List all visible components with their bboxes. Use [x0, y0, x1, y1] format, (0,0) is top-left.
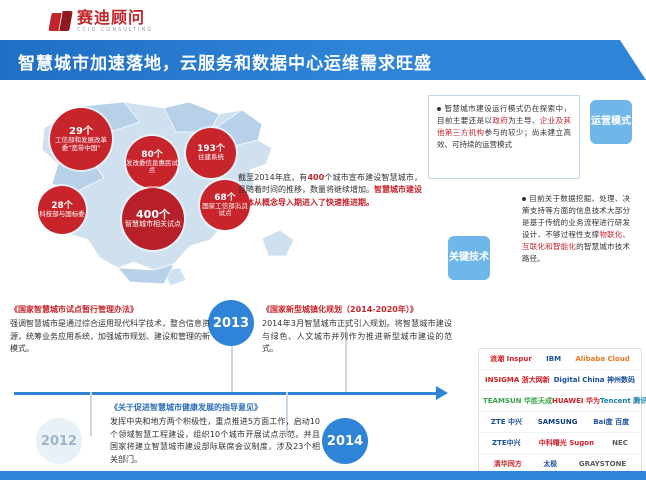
callout1-part3: 为主导、: [508, 116, 540, 125]
partner-logo: Alibaba Cloud: [575, 355, 629, 363]
partner-logo: HUAWEI 华为: [552, 396, 600, 406]
timeline-arrow-icon: [436, 386, 448, 400]
partner-logo: ZTE中兴: [492, 438, 521, 448]
map-bubble-5-label: 智慧城市相关试点: [125, 221, 181, 229]
callout-key-technology: 目前关于数据挖掘、处理、决策支持等方面的信息技术大部分是基于传统的业务流程进行研…: [514, 186, 638, 272]
partner-logo-row: ZTE中兴 中科曙光 Sugon NEC: [479, 433, 641, 453]
timeline-connector-2012: [90, 392, 92, 436]
timeline-item-urbanization-plan: 《国家新型城镇化规划（2014-2020年）》 2014年3月智慧城市正式引入规…: [262, 304, 452, 356]
partner-logo: INSIGMA 浙大网新: [485, 375, 550, 385]
partner-logo: GRAYSTONE: [579, 460, 626, 468]
partner-logo: 清华同方: [494, 459, 522, 469]
brand-name-cn: 赛迪顾问: [77, 10, 153, 26]
partner-logo-panel: 浪潮 Inspur IBM Alibaba Cloud INSIGMA 浙大网新…: [478, 348, 642, 472]
partner-logo: ZTE 中兴: [491, 417, 522, 427]
timeline-item-urbanization-plan-heading: 《国家新型城镇化规划（2014-2020年）》: [262, 304, 452, 316]
partner-logo: 中科曙光 Sugon: [539, 438, 594, 448]
timeline-year-2013: 2013: [208, 300, 254, 346]
partner-logo-row: 浪潮 Inspur IBM Alibaba Cloud: [479, 349, 641, 369]
map-bubble-3: 193个 住建系统: [186, 128, 236, 178]
map-bubble-4: 28个 科技部与国标委: [38, 186, 86, 234]
brand-name-en: CCID CONSULTING: [77, 28, 153, 33]
map-bubble-2: 80个 发改委信息惠民试点: [126, 136, 178, 188]
title-bar: 智慧城市加速落地，云服务和数据中心运维需求旺盛: [0, 40, 646, 80]
partner-logo-row: ZTE 中兴 SAMSUNG Bai度 百度: [479, 412, 641, 432]
timeline-year-2014: 2014: [322, 418, 368, 464]
callout-operation-mode: 智慧城市建设运行模式仍在探索中，目前主要还是以政府为主导、企业及其他第三方机构参…: [428, 95, 580, 179]
partner-logo: IBM: [546, 355, 561, 363]
partner-logo-row: INSIGMA 浙大网新 Digital China 神州数码: [479, 370, 641, 390]
page-title: 智慧城市加速落地，云服务和数据中心运维需求旺盛: [18, 49, 432, 74]
timeline-item-healthy-development-heading: 《关于促进智慧城市健康发展的指导意见》: [110, 402, 320, 414]
timeline-axis: [14, 392, 438, 395]
summary-count: 400: [307, 173, 324, 182]
footer-bar: [0, 471, 646, 480]
partner-logo: Bai度 百度: [593, 417, 629, 427]
partner-logo: 太极: [543, 459, 557, 469]
brand-logo: 赛迪顾问 CCID CONSULTING: [50, 10, 153, 33]
tag-key-technology: 关键技术: [448, 236, 490, 280]
partner-logo: Digital China 神州数码: [554, 375, 635, 385]
title-bar-notch: [620, 40, 646, 80]
partner-logo: TEAMSUN 华胜天成: [483, 396, 552, 406]
timeline-item-trial-measures: 《国家智慧城市试点暂行管理办法》 强调智慧城市是通过综合运用现代科学技术，整合信…: [10, 304, 210, 356]
timeline-item-healthy-development: 《关于促进智慧城市健康发展的指导意见》 发挥中央和地方两个积极性，重点推进5方面…: [110, 402, 320, 466]
partner-logo: NEC: [612, 439, 628, 447]
bullet-icon: [522, 197, 526, 201]
map-bubble-1: 29个 工信部和发展改革委"宽带中国": [50, 108, 112, 170]
timeline-year-2012: 2012: [36, 418, 82, 464]
map-bubble-4-label: 科技部与国标委: [39, 211, 85, 218]
map-bubble-3-label: 住建系统: [198, 154, 224, 161]
partner-logo-row: TEAMSUN 华胜天成 HUAWEI 华为 Tencent 腾讯: [479, 391, 641, 411]
partner-logo: Tencent 腾讯: [600, 396, 646, 406]
timeline-item-trial-measures-heading: 《国家智慧城市试点暂行管理办法》: [10, 304, 210, 316]
map-bubble-5: 400个 智慧城市相关试点: [122, 188, 184, 250]
map-bubble-2-label: 发改委信息惠民试点: [126, 160, 178, 175]
partner-logo: 浪潮 Inspur: [490, 354, 532, 364]
brand-mark-icon: [50, 11, 72, 33]
callout1-part2: 政府: [492, 116, 508, 125]
timeline-item-urbanization-plan-body: 2014年3月智慧城市正式引入规划。将智慧城市建设与绿色、人文城市并列作为推进新…: [262, 319, 452, 353]
tag-operation-mode: 运营模式: [590, 100, 632, 144]
partner-logo: SAMSUNG: [538, 418, 578, 426]
map-bubble-1-label: 工信部和发展改革委"宽带中国": [50, 137, 112, 152]
bullet-icon: [437, 107, 441, 111]
summary-paragraph: 截至2014年底，有400个城市宣布建设智慧城市，且随着时间的推移，数量将继续增…: [238, 172, 422, 209]
slide-root: 赛迪顾问 CCID CONSULTING 智慧城市加速落地，云服务和数据中心运维…: [0, 0, 646, 480]
summary-prefix: 截至2014年底，有: [238, 173, 307, 182]
timeline-item-trial-measures-body: 强调智慧城市是通过综合运用现代科学技术，整合信息资源，统筹业务应用系统，加强城市…: [10, 319, 210, 353]
timeline-item-healthy-development-body: 发挥中央和地方两个积极性，重点推进5方面工作，启动10个领域智慧工程建设，组织1…: [110, 417, 320, 463]
